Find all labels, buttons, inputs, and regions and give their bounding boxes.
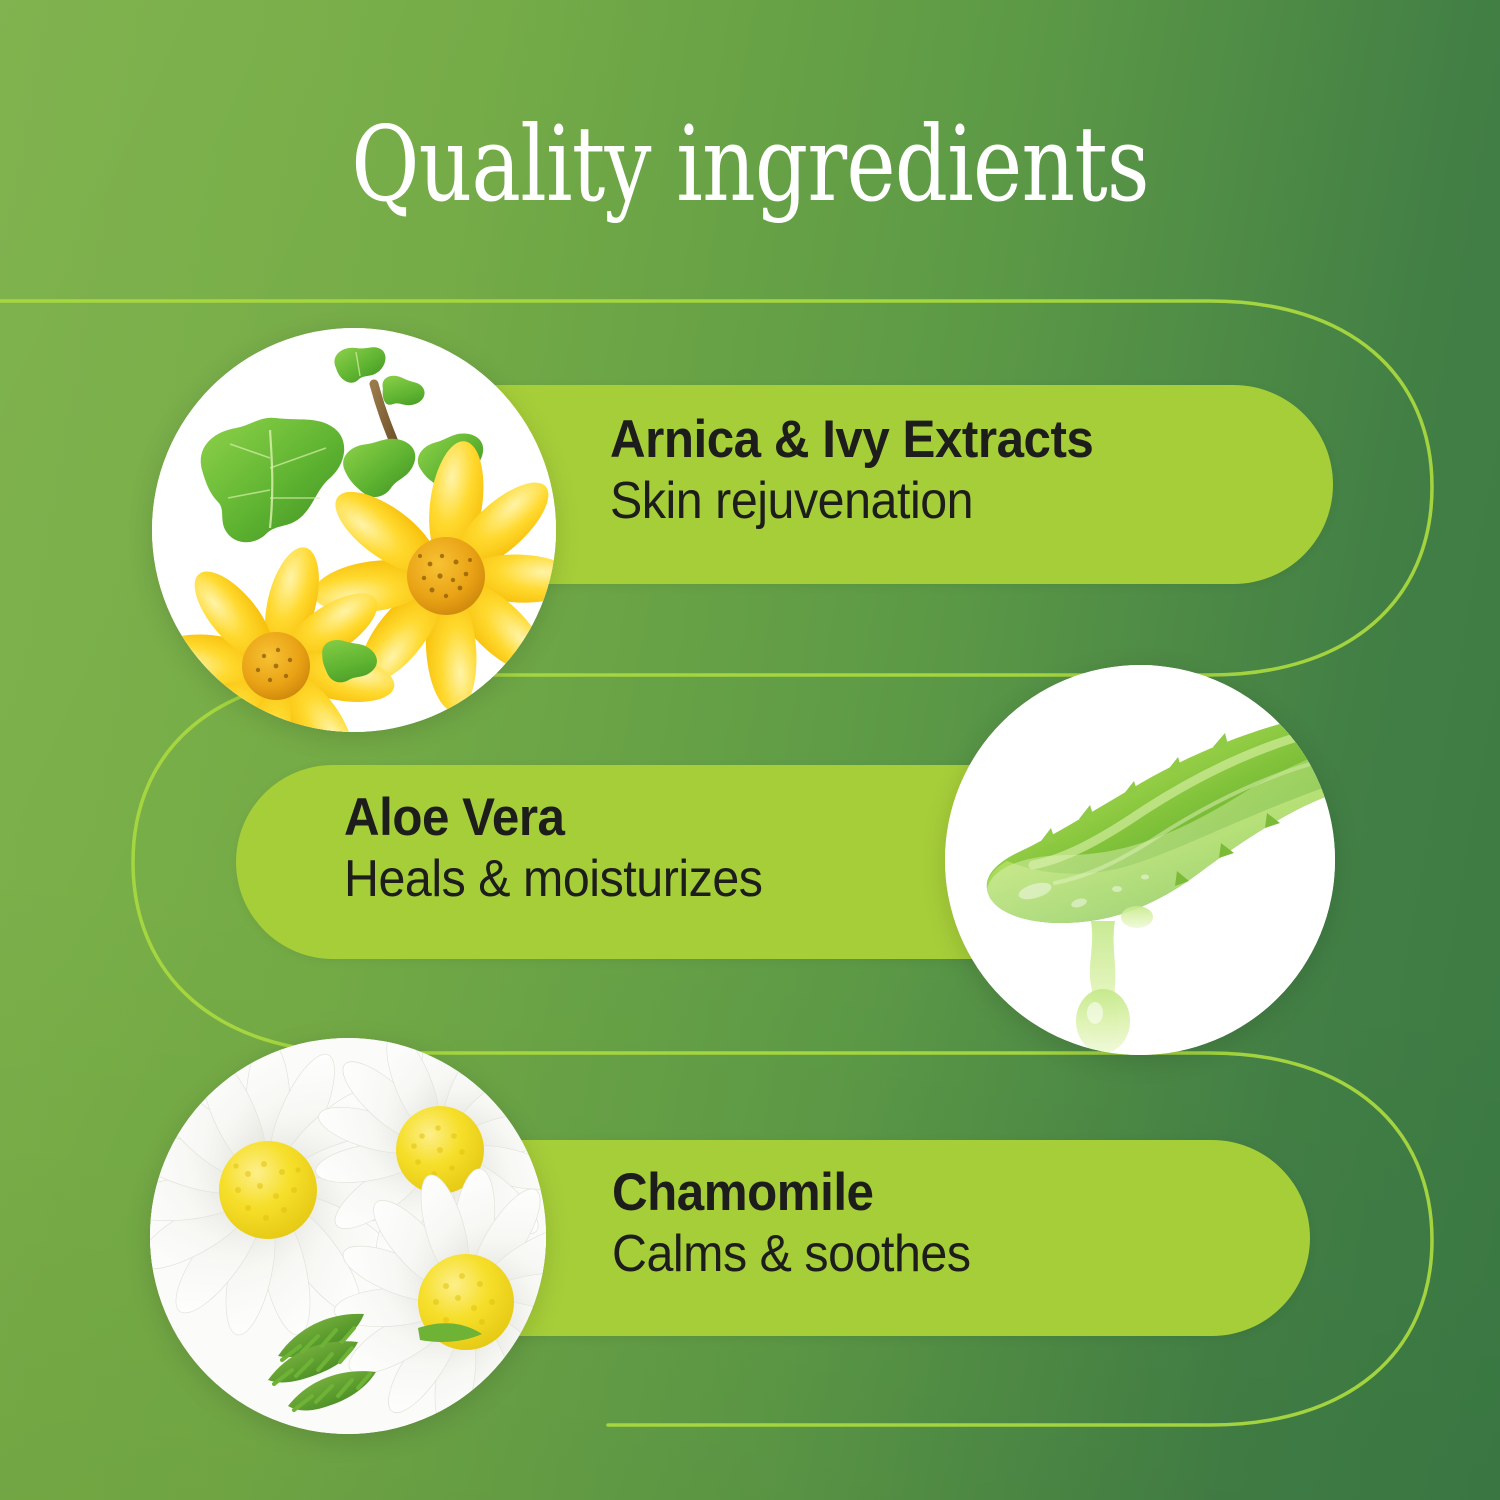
ingredient-name-aloe: Aloe Vera bbox=[344, 790, 995, 846]
ingredient-name-chamomile: Chamomile bbox=[612, 1165, 1263, 1221]
ingredient-text-chamomile: Chamomile Calms & soothes bbox=[612, 1165, 1312, 1282]
page-title: Quality ingredients bbox=[150, 108, 1350, 220]
ingredient-benefit-aloe: Heals & moisturizes bbox=[344, 852, 995, 907]
ingredient-text-arnica: Arnica & Ivy Extracts Skin rejuvenation bbox=[610, 412, 1310, 529]
ingredient-benefit-chamomile: Calms & soothes bbox=[612, 1227, 1263, 1282]
chamomile-photo bbox=[150, 1038, 546, 1434]
arnica-ivy-photo bbox=[152, 328, 556, 732]
aloe-vera-photo bbox=[945, 665, 1335, 1055]
ingredient-text-aloe: Aloe Vera Heals & moisturizes bbox=[344, 790, 1044, 907]
ingredient-benefit-arnica: Skin rejuvenation bbox=[610, 474, 1261, 529]
ingredient-name-arnica: Arnica & Ivy Extracts bbox=[610, 412, 1261, 468]
ingredients-infographic: Quality ingredients Arnica & Ivy Extract… bbox=[0, 0, 1500, 1500]
